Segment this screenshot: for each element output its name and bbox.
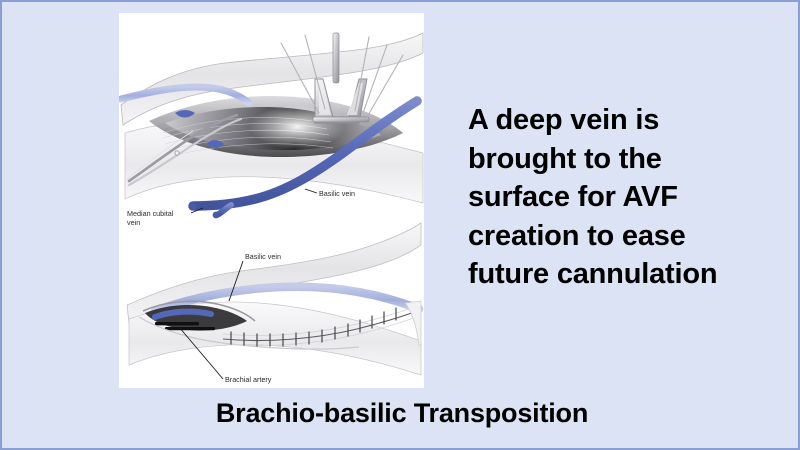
figure-panel: Basilic vein Median cubital vein [119, 13, 424, 388]
label-basilic-vein-upper: Basilic vein [319, 189, 355, 198]
slide-canvas: Basilic vein Median cubital vein [0, 0, 800, 450]
anatomical-illustration: Basilic vein Median cubital vein [119, 13, 424, 388]
label-median-cubital-vein-line2: vein [127, 218, 140, 227]
lower-arm-illustration: Basilic vein Brachial artery [127, 223, 421, 384]
label-median-cubital-vein-line1: Median cubital [127, 209, 174, 218]
body-text: A deep vein is brought to the surface fo… [468, 101, 758, 294]
retractor-handle [333, 33, 339, 83]
slide-caption: Brachio-basilic Transposition [2, 398, 800, 429]
leader-basilic-vein-upper [305, 189, 317, 193]
label-basilic-vein-lower: Basilic vein [245, 252, 281, 261]
vein-terminal-bulb-2 [189, 202, 196, 209]
vein-terminal-bulb-1 [213, 212, 220, 219]
brachial-artery-band-1 [155, 322, 199, 325]
brachial-artery-band-2 [165, 327, 215, 330]
upper-arm-illustration: Basilic vein Median cubital vein [121, 33, 423, 227]
label-brachial-artery: Brachial artery [225, 375, 272, 384]
